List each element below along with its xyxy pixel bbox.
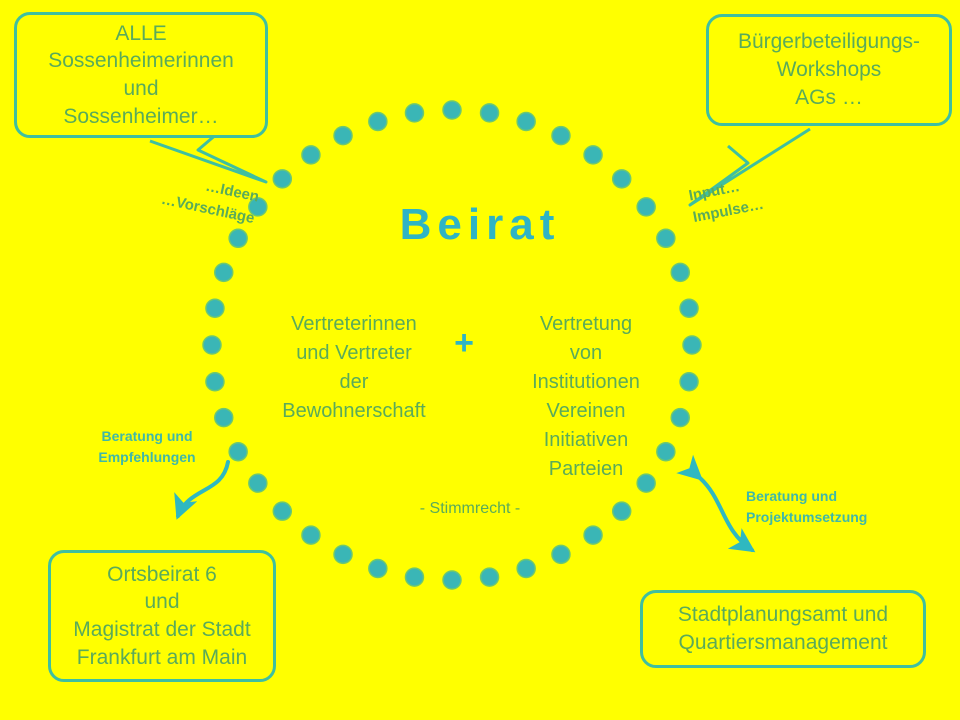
ring-dot (683, 336, 701, 354)
ring-dot (680, 299, 698, 317)
ring-dot (334, 127, 352, 145)
plus-icon: + (442, 326, 486, 360)
callout-box-workshops: Bürgerbeteiligungs- Workshops AGs … (706, 14, 952, 126)
ring-dot (481, 104, 499, 122)
page-title-beirat: Beirat (0, 200, 960, 250)
ring-dot (552, 127, 570, 145)
arrow-label-advice-recommendations: Beratung und Empfehlungen (72, 426, 222, 468)
arrow-label-advice-implementation: Beratung und Projektumsetzung (746, 486, 916, 528)
ring-dot (517, 560, 535, 578)
ring-dot (215, 263, 233, 281)
ring-dot (584, 146, 602, 164)
center-footnote-voting-right: - Stimmrecht - (330, 500, 610, 518)
callout-box-citizens: ALLE Sossenheimerinnen und Sossenheimer… (14, 12, 268, 138)
ring-dot (680, 373, 698, 391)
ring-dot (517, 113, 535, 131)
ring-dot (229, 443, 247, 461)
center-column-institutions: Vertretung von Institutionen Vereinen In… (498, 310, 674, 484)
arrow-advice-implementation (700, 478, 752, 550)
ring-dot (443, 571, 461, 589)
ring-dot (613, 170, 631, 188)
center-column-residents: Vertreterinnen und Vertreter der Bewohne… (268, 310, 440, 426)
ring-dot (302, 526, 320, 544)
ring-dot (671, 263, 689, 281)
ring-dot (302, 146, 320, 164)
ring-dot (206, 299, 224, 317)
box-ortsbeirat-magistrat: Ortsbeirat 6 und Magistrat der Stadt Fra… (48, 550, 276, 682)
ring-dot (206, 373, 224, 391)
ring-dot (613, 502, 631, 520)
ring-dot (215, 409, 233, 427)
ring-dot (552, 545, 570, 563)
ring-dot (443, 101, 461, 119)
box-stadtplanungsamt-quartiersmanagement: Stadtplanungsamt und Quartiersmanagement (640, 590, 926, 668)
ring-dot (369, 560, 387, 578)
ring-dot (584, 526, 602, 544)
ring-dot (273, 502, 291, 520)
ring-dot (249, 474, 267, 492)
ring-dot (203, 336, 221, 354)
ring-dot (334, 545, 352, 563)
ring-dot (405, 104, 423, 122)
ring-dot (405, 568, 423, 586)
ring-dot (481, 568, 499, 586)
arrow-advice-recommendations (178, 462, 228, 516)
diagram-canvas: ALLE Sossenheimerinnen und Sossenheimer…… (0, 0, 960, 720)
ring-dot (273, 170, 291, 188)
ring-dot (369, 113, 387, 131)
